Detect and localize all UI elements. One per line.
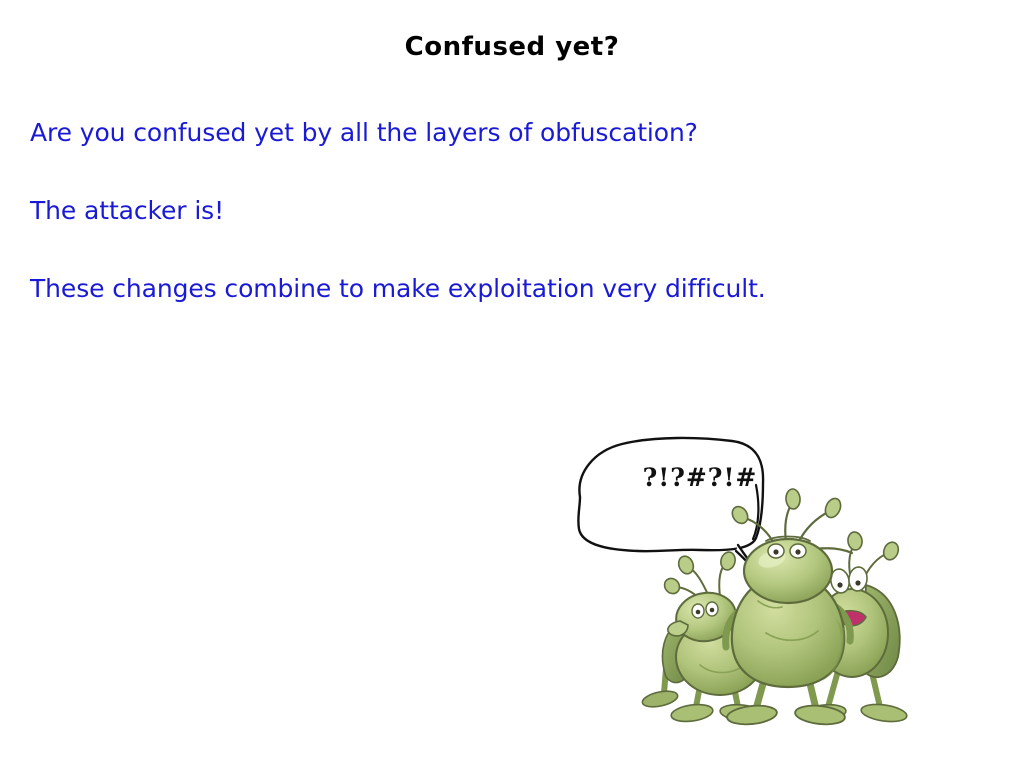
body-line-2: The attacker is! bbox=[30, 196, 970, 226]
page-title: Confused yet? bbox=[0, 30, 1024, 64]
bug-center-pupil-2 bbox=[795, 549, 800, 554]
cartoon-svg bbox=[560, 425, 940, 745]
bug-right-antenna-bulb-2 bbox=[881, 540, 901, 562]
bug-left-antenna-bulb-3 bbox=[661, 575, 682, 596]
bug-center-pupil-1 bbox=[773, 549, 778, 554]
bug-center-antenna-bulb-3 bbox=[823, 496, 844, 520]
bug-left-pupil-1 bbox=[696, 610, 701, 615]
bug-left-pupil-2 bbox=[710, 608, 715, 613]
bug-left-antenna-bulb-1 bbox=[676, 554, 696, 576]
cartoon-illustration: ?!?#?!# bbox=[560, 425, 940, 745]
bug-left-foot-1 bbox=[670, 702, 714, 724]
bug-right-pupil-1 bbox=[837, 582, 842, 587]
bug-center-antenna-bulb-2 bbox=[785, 489, 800, 510]
bug-left-foot-3 bbox=[641, 688, 679, 709]
bug-right-antenna-bulb-1 bbox=[847, 531, 863, 551]
bug-right-pupil-2 bbox=[855, 580, 860, 585]
slide-canvas: Confused yet? Are you confused yet by al… bbox=[0, 0, 1024, 768]
body-line-1: Are you confused yet by all the layers o… bbox=[30, 118, 970, 148]
bug-right-foot-2 bbox=[860, 702, 908, 724]
body-line-3: These changes combine to make exploitati… bbox=[30, 274, 970, 304]
slide-body: Are you confused yet by all the layers o… bbox=[30, 118, 970, 304]
bug-left-snout bbox=[668, 621, 688, 636]
bubble-body bbox=[578, 438, 763, 551]
bug-center-head bbox=[744, 539, 832, 603]
